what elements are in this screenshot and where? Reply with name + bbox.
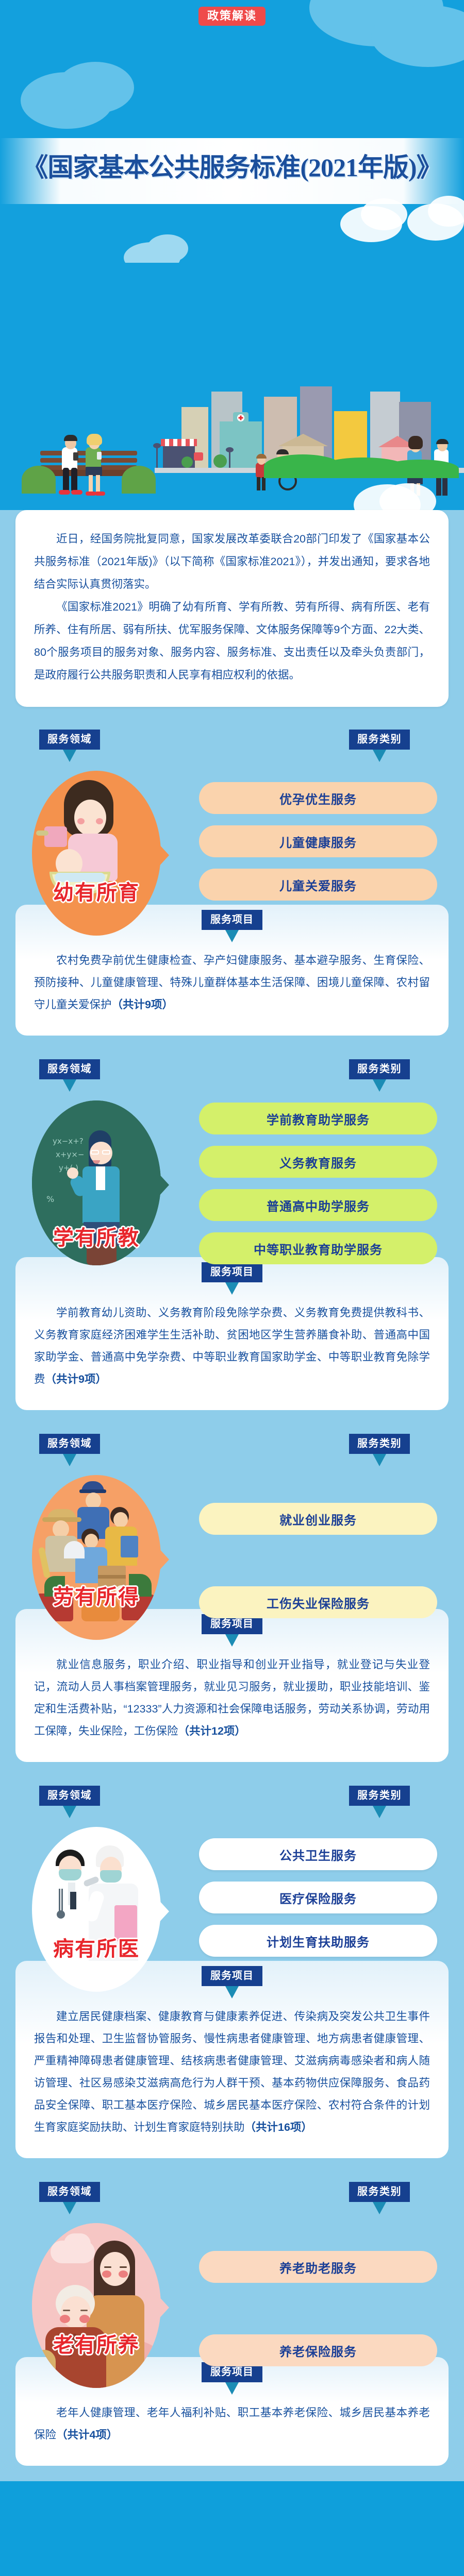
category-pill[interactable]: 就业创业服务 — [199, 1503, 437, 1535]
category-pill[interactable]: 医疗保险服务 — [199, 1882, 437, 1913]
project-items: 农村免费孕前优生健康检查、孕产妇健康服务、基本避孕服务、生育保险、预防接种、儿童… — [34, 954, 430, 1011]
service-category-tag: 服务类别 — [349, 1059, 410, 1079]
person-hair — [64, 435, 77, 441]
section-illustration — [32, 771, 161, 936]
hedge — [22, 466, 56, 494]
category-list: 学前教育助学服务义务教育服务普通高中助学服务中等职业教育助学服务 — [199, 1103, 437, 1276]
project-count: （共计4项） — [56, 2429, 118, 2441]
service-project-text: 农村免费孕前优生健康检查、孕产妇健康服务、基本避孕服务、生育保险、预防接种、儿童… — [34, 950, 430, 1016]
section-spacer — [0, 2158, 464, 2172]
section-spacer — [0, 2466, 464, 2479]
category-pill[interactable]: 儿童健康服务 — [199, 825, 437, 857]
section-title: 劳有所得 — [32, 1580, 161, 1610]
hospital-sign — [233, 412, 248, 423]
service-section-0: 服务领域 服务类别 幼有所育 优孕优生服务儿童健康服务儿童关爱服务 服务项目 农… — [0, 721, 464, 1051]
person-shoe — [59, 490, 70, 495]
sections-container: 服务领域 服务类别 幼有所育 优孕优生服务儿童健康服务儿童关爱服务 服务项目 农… — [0, 721, 464, 2481]
project-count: （共计9项） — [45, 1373, 107, 1385]
service-domain-tag: 服务领域 — [39, 1786, 100, 1806]
person-shoe — [95, 492, 105, 496]
person-leg — [96, 475, 100, 493]
section-illustration — [32, 2223, 161, 2388]
category-pill[interactable]: 公共卫生服务 — [199, 1838, 437, 1870]
smartphone-icon — [73, 452, 78, 461]
street-lamp-head — [153, 443, 161, 448]
person-leg — [262, 477, 266, 490]
category-pill[interactable]: 养老保险服务 — [199, 2334, 437, 2366]
policy-badge: 政策解读 — [198, 7, 266, 26]
person-hair — [276, 449, 289, 454]
service-domain-tag: 服务领域 — [39, 1059, 100, 1079]
pointer-arrow — [158, 1173, 169, 1197]
category-pill[interactable]: 工伤失业保险服务 — [199, 1586, 437, 1618]
pointer-arrow — [158, 1547, 169, 1572]
person-shoe — [86, 492, 96, 496]
section-title: 幼有所育 — [32, 876, 161, 906]
street-scene — [0, 361, 464, 510]
street-lamp-head — [226, 447, 234, 452]
category-list: 优孕优生服务儿童健康服务儿童关爱服务 — [199, 782, 437, 912]
section-title: 老有所养 — [32, 2328, 161, 2358]
service-section-1: 服务领域 服务类别 yx−x+? x+y×− y+( ) % 学有所教 学前教育… — [0, 1051, 464, 1426]
service-category-tag: 服务类别 — [349, 1434, 410, 1454]
service-section-4: 服务领域 服务类别 老有所养 养老助老服务养老保险服务 服务项目 — [0, 2174, 464, 2481]
project-count: （共计9项） — [112, 998, 173, 1011]
section-spacer — [0, 1410, 464, 1423]
service-project-card: 服务项目 学前教育幼儿资助、义务教育阶段免除学杂费、义务教育免费提供教科书、义务… — [15, 1257, 449, 1410]
person-leg — [89, 475, 93, 493]
section-header: 服务领域 服务类别 老有所养 养老助老服务养老保险服务 — [0, 2174, 464, 2357]
intro-section: 近日，经国务院批复同意，国家发展改革委联合20部门印发了《国家基本公共服务标准（… — [0, 510, 464, 721]
person-hair — [436, 439, 449, 444]
service-section-3: 服务领域 服务类别 病有所医 公共卫生服务医疗保险服务计划生育扶助服务 服务项目… — [0, 1777, 464, 2174]
service-project-tag: 服务项目 — [202, 910, 262, 930]
project-items: 建立居民健康档案、健康教育与健康素养促进、传染病及突发公共卫生事件报告和处理、卫… — [34, 2010, 430, 2133]
tree — [213, 454, 227, 468]
category-list: 养老助老服务养老保险服务 — [199, 2251, 437, 2418]
smartphone-icon — [97, 452, 102, 460]
service-project-tag: 服务项目 — [202, 1966, 262, 1986]
pointer-arrow — [158, 1899, 169, 1924]
pointer-arrow — [158, 2295, 169, 2320]
section-header: 服务领域 服务类别 病有所医 公共卫生服务医疗保险服务计划生育扶助服务 — [0, 1777, 464, 1961]
tree — [181, 456, 193, 468]
project-count: （共计12项） — [178, 1725, 246, 1737]
service-domain-tag: 服务领域 — [39, 2182, 100, 2202]
section-title: 学有所教 — [32, 1221, 161, 1251]
category-pill[interactable]: 普通高中助学服务 — [199, 1189, 437, 1221]
service-category-tag: 服务类别 — [349, 1786, 410, 1806]
section-title: 病有所医 — [32, 1932, 161, 1962]
hill — [382, 460, 459, 478]
category-pill[interactable]: 计划生育扶助服务 — [199, 1925, 437, 1957]
service-domain-tag: 服务领域 — [39, 1434, 100, 1454]
intro-card: 近日，经国务院批复同意，国家发展改革委联合20部门印发了《国家基本公共服务标准（… — [15, 510, 449, 707]
category-list: 就业创业服务工伤失业保险服务 — [199, 1503, 437, 1670]
category-pill[interactable]: 学前教育助学服务 — [199, 1103, 437, 1134]
section-spacer — [0, 1762, 464, 1775]
pointer-arrow — [158, 843, 169, 868]
page-title: 《国家基本公共服务标准(2021年版)》 — [0, 147, 464, 184]
street-lamp — [229, 450, 230, 468]
service-category-tag: 服务类别 — [349, 2182, 410, 2202]
person-hair — [408, 436, 423, 449]
hero-banner: 政策解读 《国家基本公共服务标准(2021年版)》 — [0, 0, 464, 361]
category-pill[interactable]: 优孕优生服务 — [199, 782, 437, 814]
section-spacer — [0, 1036, 464, 1049]
service-project-text: 建立居民健康档案、健康教育与健康素养促进、传染病及突发公共卫生事件报告和处理、卫… — [34, 2006, 430, 2139]
person-hair — [256, 454, 267, 459]
project-count: （共计16项） — [245, 2121, 312, 2133]
ground — [0, 263, 464, 361]
category-pill[interactable]: 养老助老服务 — [199, 2251, 437, 2283]
service-section-2: 服务领域 服务类别 劳有所得 就业创业服务工伤失业保 — [0, 1426, 464, 1777]
service-project-text: 学前教育幼儿资助、义务教育阶段免除学杂费、义务教育免费提供教科书、义务教育家庭经… — [34, 1302, 430, 1391]
section-header: 服务领域 服务类别 劳有所得 就业创业服务工伤失业保 — [0, 1426, 464, 1609]
person-shoe — [71, 490, 82, 495]
cloud-shape — [57, 62, 134, 113]
intro-paragraph-2: 《国家标准2021》明确了幼有所育、学有所教、劳有所得、病有所医、老有所养、住有… — [34, 596, 430, 686]
service-domain-tag: 服务领域 — [39, 730, 100, 750]
category-list: 公共卫生服务医疗保险服务计划生育扶助服务 — [199, 1838, 437, 1968]
person-leg — [71, 468, 77, 492]
person-hair — [87, 434, 102, 445]
section-header: 服务领域 服务类别 幼有所育 优孕优生服务儿童健康服务儿童关爱服务 — [0, 721, 464, 905]
category-pill[interactable]: 义务教育服务 — [199, 1146, 437, 1178]
section-illustration — [32, 1475, 161, 1640]
civic-roof — [278, 434, 328, 446]
section-header: 服务领域 服务类别 yx−x+? x+y×− y+( ) % 学有所教 学前教育… — [0, 1051, 464, 1257]
person-leg — [63, 468, 69, 492]
hedge — [122, 466, 156, 494]
category-pill[interactable]: 中等职业教育助学服务 — [199, 1232, 437, 1264]
category-pill[interactable]: 儿童关爱服务 — [199, 869, 437, 901]
section-illustration — [32, 1827, 161, 1992]
shop-awning — [161, 439, 197, 446]
service-project-card: 服务项目 建立居民健康档案、健康教育与健康素养促进、传染病及突发公共卫生事件报告… — [15, 1961, 449, 2158]
person-leg — [257, 477, 260, 490]
service-category-tag: 服务类别 — [349, 730, 410, 750]
street-lamp — [156, 446, 158, 468]
shop-sign — [194, 452, 203, 461]
intro-paragraph-1: 近日，经国务院批复同意，国家发展改革委联合20部门印发了《国家基本公共服务标准（… — [34, 528, 430, 596]
